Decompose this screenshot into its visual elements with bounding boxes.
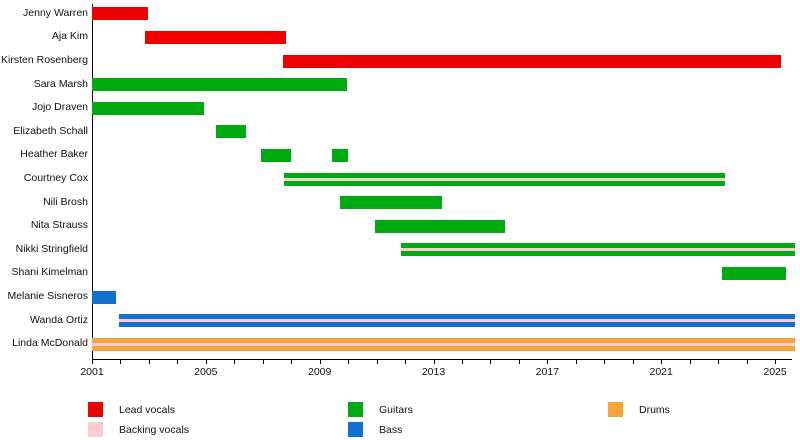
category-label: Melanie Sisneros <box>7 291 88 302</box>
category-label: Heather Baker <box>20 149 88 160</box>
legend-label: Lead vocals <box>119 404 175 416</box>
gantt-bar-overlay <box>92 343 795 346</box>
legend-swatch <box>608 402 623 417</box>
x-axis-tick-label: 2005 <box>194 366 217 378</box>
x-axis-tick <box>377 359 378 364</box>
x-axis-tick <box>690 359 691 364</box>
category-label: Elizabeth Schall <box>13 126 88 137</box>
legend-item: Backing vocals <box>88 422 189 437</box>
legend-label: Drums <box>639 404 670 416</box>
x-axis-tick-label: 2013 <box>422 366 445 378</box>
legend: Lead vocalsBacking vocalsGuitarsBassDrum… <box>0 396 800 440</box>
x-axis-tick <box>576 359 577 364</box>
legend-label: Bass <box>379 424 402 436</box>
legend-label: Backing vocals <box>119 424 189 436</box>
x-axis-tick <box>320 359 321 364</box>
x-axis-tick <box>348 359 349 364</box>
gantt-bar <box>92 102 204 115</box>
gantt-bar <box>340 196 442 209</box>
x-axis-tick <box>462 359 463 364</box>
gantt-bar <box>283 55 781 68</box>
category-label: Wanda Ortiz <box>30 315 88 326</box>
x-axis-tick-label: 2009 <box>308 366 331 378</box>
legend-swatch <box>88 402 103 417</box>
x-axis-tick <box>775 359 776 364</box>
gantt-bar <box>332 149 348 162</box>
gantt-bar <box>145 31 286 44</box>
legend-item: Bass <box>348 422 402 437</box>
category-label: Nita Strauss <box>31 220 88 231</box>
x-axis-tick-label: 2001 <box>80 366 103 378</box>
gantt-chart: Jenny WarrenAja KimKirsten RosenbergSara… <box>0 0 800 440</box>
x-axis-tick <box>633 359 634 364</box>
gantt-bar <box>261 149 291 162</box>
category-label: Courtney Cox <box>24 173 88 184</box>
category-label: Shani Kimelman <box>12 267 88 278</box>
x-axis-tick <box>604 359 605 364</box>
gantt-bar-overlay <box>284 178 725 181</box>
legend-swatch <box>348 402 363 417</box>
x-axis-tick <box>747 359 748 364</box>
x-axis-tick-label: 2021 <box>650 366 673 378</box>
gantt-bar <box>722 267 786 280</box>
x-axis-tick <box>519 359 520 364</box>
legend-swatch <box>348 422 363 437</box>
gantt-bar <box>92 78 347 91</box>
legend-item: Drums <box>608 402 670 417</box>
gantt-bar-overlay <box>119 319 795 322</box>
legend-label: Guitars <box>379 404 413 416</box>
category-label: Nikki Stringfield <box>16 244 88 255</box>
x-axis-tick <box>405 359 406 364</box>
gantt-bar <box>92 7 148 20</box>
x-axis-tick <box>263 359 264 364</box>
x-axis-tick-label: 2017 <box>536 366 559 378</box>
legend-swatch <box>88 422 103 437</box>
x-axis-tick <box>149 359 150 364</box>
x-axis-tick <box>206 359 207 364</box>
legend-item: Guitars <box>348 402 413 417</box>
x-axis-tick <box>490 359 491 364</box>
x-axis-tick <box>434 359 435 364</box>
gantt-bar <box>92 291 116 304</box>
category-label-column: Jenny WarrenAja KimKirsten RosenbergSara… <box>0 0 88 360</box>
category-label: Jenny Warren <box>23 8 88 19</box>
category-label: Kirsten Rosenberg <box>1 55 88 66</box>
x-axis-tick <box>718 359 719 364</box>
gantt-bar-overlay <box>401 248 795 251</box>
category-label: Aja Kim <box>52 31 88 42</box>
x-axis-tick-label: 2025 <box>763 366 786 378</box>
x-axis-tick <box>661 359 662 364</box>
x-axis-tick <box>120 359 121 364</box>
x-axis-tick <box>547 359 548 364</box>
plot-area <box>92 0 800 360</box>
x-axis-tick <box>177 359 178 364</box>
category-label: Nili Brosh <box>43 197 88 208</box>
x-axis-tick <box>291 359 292 364</box>
category-label: Jojo Draven <box>32 102 88 113</box>
category-label: Sara Marsh <box>34 79 88 90</box>
x-axis-tick <box>234 359 235 364</box>
category-label: Linda McDonald <box>12 338 88 349</box>
legend-item: Lead vocals <box>88 402 175 417</box>
gantt-bar <box>216 125 246 138</box>
gantt-bar <box>375 220 504 233</box>
x-axis-tick <box>92 359 93 364</box>
